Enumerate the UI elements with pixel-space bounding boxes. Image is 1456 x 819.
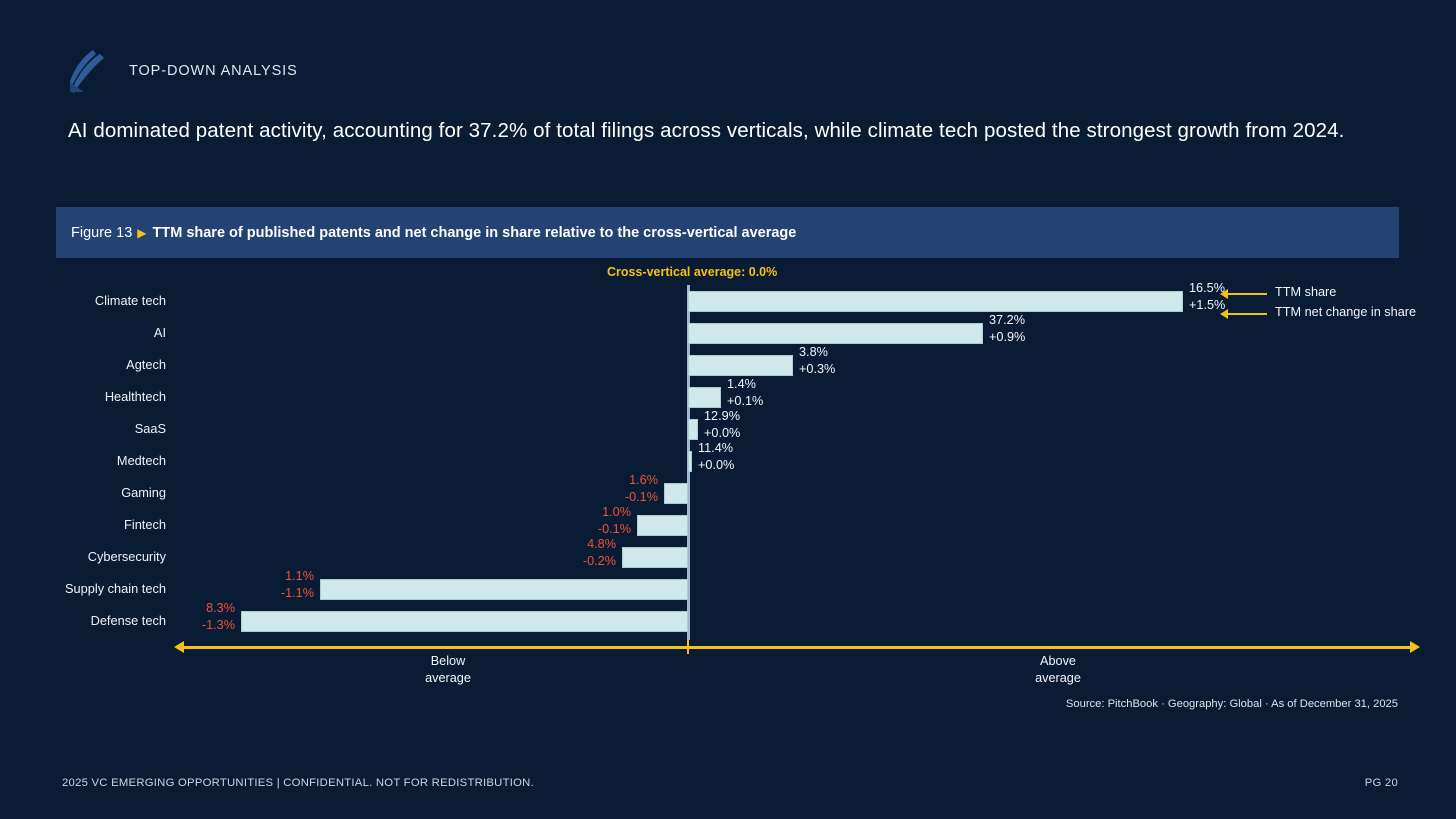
bar-value-labels: 12.9%+0.0% bbox=[704, 408, 824, 441]
bar-rows: Climate tech16.5%+1.5%AI37.2%+0.9%Agtech… bbox=[0, 285, 1456, 640]
pitchbook-logo-icon bbox=[62, 48, 108, 96]
ttm-share-value: 1.0% bbox=[511, 504, 631, 521]
table-row: AI37.2%+0.9% bbox=[0, 317, 1456, 349]
arrow-left-icon bbox=[174, 641, 184, 653]
cross-vertical-average-label: Cross-vertical average: 0.0% bbox=[607, 265, 777, 279]
ttm-net-change-value: +0.3% bbox=[799, 361, 919, 378]
category-label: SaaS bbox=[0, 413, 166, 445]
bar-value-labels: 1.1%-1.1% bbox=[194, 568, 314, 601]
bar-value-labels: 8.3%-1.3% bbox=[115, 600, 235, 633]
triangle-right-icon: ▶ bbox=[137, 227, 146, 239]
category-label: AI bbox=[0, 317, 166, 349]
ttm-share-value: 37.2% bbox=[989, 312, 1109, 329]
table-row: Gaming1.6%-0.1% bbox=[0, 477, 1456, 509]
slide: TOP-DOWN ANALYSIS AI dominated patent ac… bbox=[0, 0, 1456, 819]
figure-title: TTM share of published patents and net c… bbox=[153, 225, 797, 241]
chart-area: Cross-vertical average: 0.0% Climate tec… bbox=[0, 258, 1456, 678]
bar bbox=[688, 451, 692, 472]
ttm-share-value: 1.4% bbox=[727, 376, 847, 393]
ttm-net-change-value: -0.2% bbox=[496, 553, 616, 570]
bar bbox=[688, 355, 793, 376]
section-kicker: TOP-DOWN ANALYSIS bbox=[129, 63, 298, 79]
category-label: Fintech bbox=[0, 509, 166, 541]
bar bbox=[320, 579, 688, 600]
category-label: Cybersecurity bbox=[0, 541, 166, 573]
category-label: Medtech bbox=[0, 445, 166, 477]
ttm-net-change-value: -0.1% bbox=[538, 489, 658, 506]
ttm-net-change-value: +0.1% bbox=[727, 393, 847, 410]
callout-ttm-share-label: TTM share bbox=[1275, 285, 1336, 299]
ttm-share-value: 3.8% bbox=[799, 344, 919, 361]
bar bbox=[688, 291, 1183, 312]
ttm-share-value: 1.1% bbox=[194, 568, 314, 585]
bar bbox=[664, 483, 688, 504]
ttm-net-change-value: +0.0% bbox=[704, 425, 824, 442]
bar bbox=[637, 515, 688, 536]
bar-value-labels: 1.4%+0.1% bbox=[727, 376, 847, 409]
bar bbox=[688, 387, 721, 408]
above-average-label: Above average bbox=[988, 653, 1128, 687]
ttm-net-change-value: -1.1% bbox=[194, 585, 314, 602]
category-label: Climate tech bbox=[0, 285, 166, 317]
bar bbox=[241, 611, 688, 632]
figure-title-band: Figure 13 ▶ TTM share of published paten… bbox=[56, 207, 1399, 258]
ttm-net-change-value: +0.0% bbox=[698, 457, 818, 474]
bar bbox=[688, 419, 698, 440]
ttm-share-value: 11.4% bbox=[698, 440, 818, 457]
category-label: Gaming bbox=[0, 477, 166, 509]
table-row: Fintech1.0%-0.1% bbox=[0, 509, 1456, 541]
page-title: AI dominated patent activity, accounting… bbox=[68, 117, 1396, 145]
ttm-share-value: 12.9% bbox=[704, 408, 824, 425]
table-row: Defense tech8.3%-1.3% bbox=[0, 605, 1456, 637]
ttm-share-value: 8.3% bbox=[115, 600, 235, 617]
arrow-right-icon bbox=[1410, 641, 1420, 653]
ttm-net-change-value: +0.9% bbox=[989, 329, 1109, 346]
bar-value-labels: 4.8%-0.2% bbox=[496, 536, 616, 569]
bar-value-labels: 1.0%-0.1% bbox=[511, 504, 631, 537]
footer-page-number: PG 20 bbox=[1365, 777, 1398, 789]
bar bbox=[688, 323, 983, 344]
source-note: Source: PitchBook · Geography: Global · … bbox=[1066, 698, 1398, 710]
below-average-label: Below average bbox=[378, 653, 518, 687]
category-label: Healthtech bbox=[0, 381, 166, 413]
bar-value-labels: 37.2%+0.9% bbox=[989, 312, 1109, 345]
ttm-share-value: 4.8% bbox=[496, 536, 616, 553]
ttm-net-change-value: -1.3% bbox=[115, 617, 235, 634]
bar-value-labels: 11.4%+0.0% bbox=[698, 440, 818, 473]
bar-value-labels: 3.8%+0.3% bbox=[799, 344, 919, 377]
table-row: Medtech11.4%+0.0% bbox=[0, 445, 1456, 477]
footer-confidentiality: 2025 VC EMERGING OPPORTUNITIES | CONFIDE… bbox=[62, 777, 534, 789]
ttm-net-change-value: -0.1% bbox=[511, 521, 631, 538]
figure-number: Figure 13 bbox=[71, 225, 132, 241]
callout-ttm-net-change-label: TTM net change in share bbox=[1275, 305, 1416, 319]
bar bbox=[622, 547, 688, 568]
category-label: Agtech bbox=[0, 349, 166, 381]
direction-axis-center-tick bbox=[687, 640, 689, 654]
bar-value-labels: 1.6%-0.1% bbox=[538, 472, 658, 505]
direction-axis-line bbox=[181, 646, 1410, 649]
ttm-share-value: 1.6% bbox=[538, 472, 658, 489]
